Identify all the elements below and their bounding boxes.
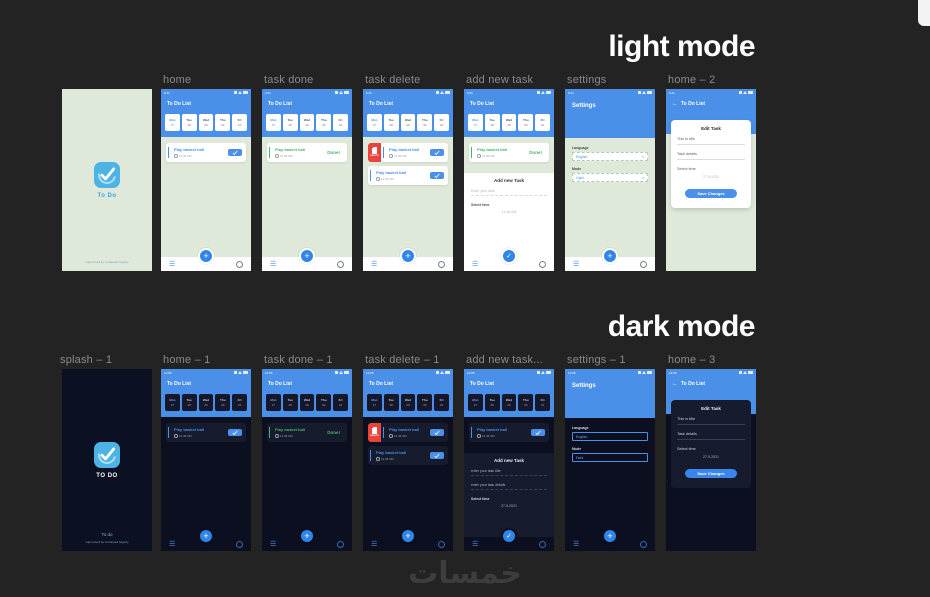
frame-label-add-new-task-1: add new task...: [466, 354, 543, 366]
day-number: 29: [507, 403, 510, 407]
check-icon: [100, 167, 115, 182]
chevron-down-icon: ▾: [642, 155, 644, 159]
day-number: 01: [238, 403, 241, 407]
splash-footer-credit: supervised by mohamed hegazy: [85, 260, 128, 264]
day-card[interactable]: Tue 28: [485, 114, 500, 131]
date-value[interactable]: 27-9-2021: [677, 175, 745, 179]
day-number: 29: [406, 403, 409, 407]
add-task-fab[interactable]: +: [602, 248, 618, 264]
screen-splash-dark[interactable]: TO DO To do supervised by mohamed hegazy: [62, 369, 152, 551]
clock-icon: [174, 434, 178, 438]
list-icon[interactable]: ☰: [270, 261, 276, 268]
day-card[interactable]: Wed 29: [502, 394, 517, 411]
task-complete-button[interactable]: [430, 452, 444, 459]
task-item[interactable]: Play basket ball 11:45 AM: [469, 423, 549, 442]
mode-select[interactable]: Dark: [572, 453, 648, 462]
screen-splash-light[interactable]: To Do supervised by mohamed hegazy: [62, 89, 152, 271]
signal-icon: [335, 371, 338, 374]
gear-icon[interactable]: [438, 541, 445, 548]
status-time: 9:41: [265, 91, 271, 95]
day-strip[interactable]: Mon 27 Tue 28 Wed 29 Thu 30 Fri 01: [464, 112, 554, 137]
wifi-icon: [339, 91, 343, 94]
language-select[interactable]: English: [572, 432, 648, 441]
day-name: Thu: [321, 398, 327, 402]
day-number: 28: [188, 403, 191, 407]
date-value[interactable]: 27-9-2021: [677, 455, 745, 459]
day-card[interactable]: Mon 27: [468, 114, 483, 131]
task-item[interactable]: Play basket ball 11:45 AM: [381, 423, 448, 442]
day-name: Wed: [506, 398, 512, 402]
frame-label-task-delete: task delete: [365, 74, 420, 86]
status-bar: 9:41: [666, 89, 756, 96]
add-task-fab[interactable]: +: [400, 248, 416, 264]
battery-icon: [344, 91, 349, 94]
bottom-nav[interactable]: ☰ ✓: [464, 537, 554, 551]
app-bar-title: To Do List: [681, 101, 705, 107]
title-input[interactable]: This is title: [677, 417, 745, 425]
day-card[interactable]: Fri 01: [232, 394, 247, 411]
app-logo: [94, 162, 120, 188]
task-item-done[interactable]: Play basket ball 11:45 AM Done!: [469, 143, 549, 162]
done-badge: Done!: [529, 150, 545, 155]
status-time: 9:41: [467, 91, 473, 95]
task-title: Play basket ball: [389, 427, 419, 432]
screen-task-done-dark[interactable]: 12:05 To Do List Mon 27 Tue 28 Wed 29 Th…: [262, 369, 352, 551]
list-icon[interactable]: ☰: [472, 541, 478, 548]
wifi-icon: [238, 91, 242, 94]
delete-action-button[interactable]: DELETE: [368, 143, 381, 162]
day-name: Mon: [371, 118, 377, 122]
day-card[interactable]: Wed 29: [401, 114, 416, 131]
list-icon[interactable]: ☰: [169, 541, 175, 548]
list-icon[interactable]: ☰: [472, 261, 478, 268]
edit-task-body: Edit Task This is title Task details Sel…: [666, 112, 756, 271]
day-card[interactable]: Thu 30: [316, 394, 331, 411]
time-value[interactable]: 11:45 AM: [471, 210, 547, 214]
gear-icon[interactable]: [438, 261, 445, 268]
task-list: Play basket ball 11:45 AM: [161, 417, 251, 537]
bottom-nav[interactable]: ☰ +: [262, 257, 352, 271]
day-number: 28: [491, 123, 494, 127]
clock-icon: [275, 434, 279, 438]
frame-label-home: home: [163, 74, 191, 86]
add-task-fab[interactable]: +: [198, 528, 214, 544]
sheet-title: Add new Task: [471, 178, 547, 183]
battery-icon: [344, 371, 349, 374]
day-name: Fri: [238, 118, 242, 122]
day-number: 29: [305, 403, 308, 407]
wifi-icon: [339, 371, 343, 374]
status-icons: [335, 91, 349, 94]
app-bar: To Do List: [161, 376, 251, 392]
add-task-fab[interactable]: +: [400, 528, 416, 544]
app-bar-title: To Do List: [268, 381, 292, 387]
screen-edit-task-dark[interactable]: 12:05 ← To Do List Edit Task This is tit…: [666, 369, 756, 551]
frame-label-task-done: task done: [264, 74, 314, 86]
day-name: Tue: [288, 398, 293, 402]
day-number: 27: [373, 123, 376, 127]
day-card[interactable]: Mon 27: [165, 114, 180, 131]
done-badge: Done!: [327, 430, 343, 435]
status-icons: [436, 371, 450, 374]
day-number: 28: [188, 123, 191, 127]
gear-icon[interactable]: [236, 261, 243, 268]
task-item[interactable]: Play basket ball 11:45 AM: [381, 143, 448, 162]
day-card[interactable]: Fri 01: [535, 394, 550, 411]
add-task-sheet: Add new Task enter your task title enter…: [464, 453, 554, 537]
list-icon[interactable]: ☰: [371, 541, 377, 548]
select-time-label: Select time: [471, 497, 547, 501]
day-number: 01: [541, 403, 544, 407]
settings-body: Language English Mode Dark: [565, 418, 655, 537]
day-number: 01: [440, 403, 443, 407]
task-title: Play basket ball: [174, 427, 204, 432]
task-time-text: 11:45 AM: [179, 434, 191, 438]
splash-footer-credit: supervised by mohamed hegazy: [85, 540, 128, 544]
mode-group: Mode Dark: [572, 447, 648, 462]
app-bar-title: To Do List: [167, 101, 191, 107]
day-card[interactable]: Thu 30: [518, 394, 533, 411]
day-card[interactable]: Fri 01: [434, 114, 449, 131]
task-time-text: 11:45 AM: [280, 434, 292, 438]
app-bar-title: To Do List: [369, 101, 393, 107]
add-task-fab[interactable]: +: [299, 528, 315, 544]
day-name: Mon: [270, 118, 276, 122]
day-card[interactable]: Tue 28: [182, 394, 197, 411]
status-bar: 9:41: [565, 89, 655, 96]
app-bar: To Do List: [363, 376, 453, 392]
task-complete-button[interactable]: [430, 429, 444, 436]
task-title: Play basket ball: [174, 147, 204, 152]
day-number: 01: [339, 123, 342, 127]
save-changes-button[interactable]: Save Changes: [685, 189, 737, 198]
day-card[interactable]: Wed 29: [199, 394, 214, 411]
task-item[interactable]: Play basket ball 11:45 AM: [166, 423, 246, 442]
day-card[interactable]: Fri 01: [333, 114, 348, 131]
sheet-title: Add new Task: [471, 458, 547, 463]
task-complete-button[interactable]: [430, 172, 444, 179]
day-card[interactable]: Wed 29: [199, 114, 214, 131]
task-time: 11:45 AM: [275, 154, 305, 158]
task-item-done[interactable]: Play basket ball 11:45 AM Done!: [267, 143, 347, 162]
day-number: 01: [440, 123, 443, 127]
app-bar-title: To Do List: [470, 101, 494, 107]
battery-icon: [546, 371, 551, 374]
day-number: 30: [524, 123, 527, 127]
task-time: 11:45 AM: [275, 434, 305, 438]
screen-task-delete-dark[interactable]: 12:05 To Do List Mon 27 Tue 28 Wed 29 Th…: [363, 369, 453, 551]
list-icon[interactable]: ☰: [573, 541, 579, 548]
language-group: Language English ▾: [572, 146, 648, 161]
check-icon: [434, 430, 440, 436]
day-name: Wed: [203, 398, 209, 402]
day-card[interactable]: Thu 30: [215, 114, 230, 131]
day-number: 01: [339, 403, 342, 407]
task-complete-button[interactable]: [228, 149, 242, 156]
day-card[interactable]: Tue 28: [384, 114, 399, 131]
status-bar: 12:05: [363, 369, 453, 376]
day-card[interactable]: Fri 01: [333, 394, 348, 411]
frame-label-task-done-1: task done – 1: [264, 354, 333, 366]
day-number: 01: [238, 123, 241, 127]
gear-icon[interactable]: [337, 541, 344, 548]
screen-home-dark[interactable]: 12:05 To Do List Mon 27 Tue 28 Wed 29 Th…: [161, 369, 251, 551]
day-name: Thu: [523, 118, 529, 122]
add-task-fab[interactable]: +: [602, 528, 618, 544]
signal-icon: [739, 371, 742, 374]
day-number: 27: [171, 123, 174, 127]
day-card[interactable]: Wed 29: [300, 114, 315, 131]
confirm-task-fab[interactable]: ✓: [501, 528, 517, 544]
gear-icon[interactable]: [539, 261, 546, 268]
task-time-text: 11:45 AM: [394, 434, 406, 438]
list-icon[interactable]: ☰: [371, 261, 377, 268]
language-select[interactable]: English ▾: [572, 152, 648, 161]
status-time: 9:41: [669, 91, 675, 95]
task-input[interactable]: Enter your task: [471, 189, 547, 196]
back-arrow-icon[interactable]: ←: [672, 101, 678, 107]
task-complete-button[interactable]: [430, 149, 444, 156]
mode-group: Mode Light ▾: [572, 167, 648, 182]
task-item-swiped[interactable]: DELETE Play basket ball 11:45 AM: [368, 143, 448, 162]
day-name: Tue: [490, 118, 495, 122]
task-text: Play basket ball 11:45 AM: [272, 427, 305, 438]
day-name: Thu: [220, 398, 226, 402]
select-time-label: Select time: [471, 203, 547, 207]
task-text: Play basket ball 11:45 AM: [171, 147, 204, 158]
screen-settings-light[interactable]: 9:41 Settings Language English ▾ Mode Li…: [565, 89, 655, 271]
task-time: 11:45 AM: [477, 154, 507, 158]
save-changes-button[interactable]: Save Changes: [685, 469, 737, 478]
day-card[interactable]: Mon 27: [266, 394, 281, 411]
day-name: Fri: [541, 398, 545, 402]
day-card[interactable]: Thu 30: [215, 394, 230, 411]
day-number: 30: [524, 403, 527, 407]
signal-icon: [234, 91, 237, 94]
task-list: Play basket ball 11:45 AM Done!: [262, 137, 352, 257]
screen-add-new-task-dark[interactable]: 12:05 To Do List Mon 27 Tue 28 Wed 29 Th…: [464, 369, 554, 551]
day-card[interactable]: Wed 29: [401, 394, 416, 411]
bottom-nav[interactable]: ☰ +: [262, 537, 352, 551]
frame-label-home-3: home – 3: [668, 354, 715, 366]
day-card[interactable]: Thu 30: [518, 114, 533, 131]
day-strip[interactable]: Mon 27 Tue 28 Wed 29 Thu 30 Fri 01: [363, 112, 453, 137]
day-name: Fri: [440, 398, 444, 402]
day-name: Mon: [169, 398, 175, 402]
gear-icon[interactable]: [539, 541, 546, 548]
day-card[interactable]: Thu 30: [417, 114, 432, 131]
frame-label-home-1: home – 1: [163, 354, 210, 366]
splash-footer-title: To do: [62, 532, 152, 539]
day-card[interactable]: Mon 27: [468, 394, 483, 411]
day-strip[interactable]: Mon 27 Tue 28 Wed 29 Thu 30 Fri 01: [363, 392, 453, 417]
task-time: 11:45 AM: [389, 154, 419, 158]
day-number: 29: [305, 123, 308, 127]
day-name: Tue: [389, 118, 394, 122]
back-arrow-icon[interactable]: ←: [672, 381, 678, 387]
task-title: Play basket ball: [275, 147, 305, 152]
bottom-nav[interactable]: ☰ +: [565, 257, 655, 271]
signal-icon: [739, 91, 742, 94]
task-text: Play basket ball 11:45 AM: [272, 147, 305, 158]
bottom-nav[interactable]: ☰ +: [565, 537, 655, 551]
task-time-text: 11:45 AM: [280, 154, 292, 158]
task-time: 11:45 AM: [174, 154, 204, 158]
day-name: Thu: [220, 118, 226, 122]
add-task-fab[interactable]: +: [198, 248, 214, 264]
day-name: Wed: [405, 398, 411, 402]
bottom-nav[interactable]: ☰ ✓: [464, 257, 554, 271]
task-item[interactable]: Play basket ball 11:45 AM: [368, 166, 448, 185]
day-card[interactable]: Tue 28: [384, 394, 399, 411]
splash-footer: supervised by mohamed hegazy: [62, 260, 152, 265]
day-card[interactable]: Tue 28: [283, 114, 298, 131]
day-name: Wed: [405, 118, 411, 122]
frame-label-settings: settings: [567, 74, 607, 86]
screen-task-done-light[interactable]: 9:41 To Do List Mon 27 Tue 28 Wed 29 Thu…: [262, 89, 352, 271]
day-strip[interactable]: Mon 27 Tue 28 Wed 29 Thu 30 Fri 01: [262, 112, 352, 137]
task-item[interactable]: Play basket ball 11:45 AM: [368, 446, 448, 465]
task-title: Play basket ball: [477, 147, 507, 152]
date-value[interactable]: 27-9-2021: [471, 504, 547, 508]
task-time: 11:45 AM: [376, 177, 406, 181]
list-icon[interactable]: ☰: [573, 261, 579, 268]
check-icon: [535, 430, 541, 436]
screen-home-light[interactable]: 9:41 To Do List Mon 27 Tue 28 Wed 29 Thu…: [161, 89, 251, 271]
settings-app-bar: Settings: [565, 96, 655, 138]
delete-action-button[interactable]: DELETE: [368, 423, 381, 442]
day-number: 28: [289, 123, 292, 127]
day-name: Mon: [270, 398, 276, 402]
corner-notch: [918, 0, 930, 26]
day-card[interactable]: Tue 28: [283, 394, 298, 411]
screen-edit-task-light[interactable]: 9:41 ← To Do List Edit Task This is titl…: [666, 89, 756, 271]
trash-icon: [372, 428, 377, 434]
status-bar: 12:05: [666, 369, 756, 376]
day-number: 30: [423, 123, 426, 127]
battery-icon: [546, 91, 551, 94]
status-icons: [234, 91, 248, 94]
day-card[interactable]: Tue 28: [182, 114, 197, 131]
delete-label: DELETE: [370, 155, 379, 157]
task-time-text: 11:45 AM: [381, 457, 393, 461]
list-icon[interactable]: ☰: [270, 541, 276, 548]
day-card[interactable]: Fri 01: [232, 114, 247, 131]
task-item-swiped[interactable]: DELETE Play basket ball 11:45 AM: [368, 423, 448, 442]
gear-icon[interactable]: [337, 261, 344, 268]
day-number: 27: [171, 403, 174, 407]
screen-add-new-task-light[interactable]: 9:41 To Do List Mon 27 Tue 28 Wed 29 Thu…: [464, 89, 554, 271]
wifi-icon: [440, 91, 444, 94]
signal-icon: [234, 371, 237, 374]
day-card[interactable]: Mon 27: [165, 394, 180, 411]
status-bar: 9:41: [161, 89, 251, 96]
screen-settings-dark[interactable]: 12:05 Settings Language English Mode Dar…: [565, 369, 655, 551]
day-card[interactable]: Thu 30: [316, 114, 331, 131]
gear-icon[interactable]: [236, 541, 243, 548]
mode-value: Light: [576, 176, 584, 180]
day-name: Tue: [187, 398, 192, 402]
day-name: Wed: [203, 118, 209, 122]
add-task-fab[interactable]: +: [299, 248, 315, 264]
day-card[interactable]: Tue 28: [485, 394, 500, 411]
status-time: 9:41: [568, 91, 574, 95]
status-bar: 9:41: [464, 89, 554, 96]
task-complete-button[interactable]: [228, 429, 242, 436]
status-icons: [234, 371, 248, 374]
day-strip[interactable]: Mon 27 Tue 28 Wed 29 Thu 30 Fri 01: [262, 392, 352, 417]
confirm-task-fab[interactable]: ✓: [501, 248, 517, 264]
clock-icon: [389, 154, 393, 158]
details-input[interactable]: Task details: [677, 432, 745, 440]
screen-task-delete-light[interactable]: 9:41 To Do List Mon 27 Tue 28 Wed 29 Thu…: [363, 89, 453, 271]
list-icon[interactable]: ☰: [169, 261, 175, 268]
task-item-done[interactable]: Play basket ball 11:45 AM Done!: [267, 423, 347, 442]
task-list: Play basket ball 11:45 AM Done!: [262, 417, 352, 537]
day-card[interactable]: Wed 29: [502, 114, 517, 131]
day-strip[interactable]: Mon 27 Tue 28 Wed 29 Thu 30 Fri 01: [161, 112, 251, 137]
bottom-nav[interactable]: ☰ +: [363, 257, 453, 271]
task-item[interactable]: Play basket ball 11:45 AM: [166, 143, 246, 162]
day-card[interactable]: Fri 01: [535, 114, 550, 131]
mode-select[interactable]: Light ▾: [572, 173, 648, 182]
task-details-input[interactable]: enter your task details: [471, 483, 547, 490]
app-bar: To Do List: [262, 96, 352, 112]
status-bar: 12:05: [262, 369, 352, 376]
day-strip[interactable]: Mon 27 Tue 28 Wed 29 Thu 30 Fri 01: [161, 392, 251, 417]
task-title-input[interactable]: enter your task title: [471, 469, 547, 476]
language-value: English: [576, 155, 587, 159]
wifi-icon: [541, 91, 545, 94]
bottom-nav[interactable]: ☰ +: [161, 537, 251, 551]
settings-title: Settings: [572, 383, 648, 389]
bottom-nav[interactable]: ☰ +: [161, 257, 251, 271]
task-complete-button[interactable]: [531, 429, 545, 436]
day-card[interactable]: Mon 27: [266, 114, 281, 131]
title-input[interactable]: This is title: [677, 137, 745, 145]
language-label: Language: [572, 426, 648, 430]
task-text: Play basket ball 11:45 AM: [474, 427, 507, 438]
frame-label-add-new-task: add new task: [466, 74, 533, 86]
day-card[interactable]: Fri 01: [434, 394, 449, 411]
signal-icon: [537, 371, 540, 374]
day-card[interactable]: Thu 30: [417, 394, 432, 411]
gear-icon[interactable]: [640, 261, 647, 268]
day-name: Tue: [389, 398, 394, 402]
day-number: 29: [204, 403, 207, 407]
battery-icon: [445, 371, 450, 374]
status-bar: 9:41: [262, 89, 352, 96]
day-name: Mon: [472, 118, 478, 122]
day-card[interactable]: Wed 29: [300, 394, 315, 411]
battery-icon: [647, 371, 652, 374]
bottom-nav[interactable]: ☰ +: [363, 537, 453, 551]
status-icons: [537, 371, 551, 374]
frame-label-task-delete-1: task delete – 1: [365, 354, 440, 366]
day-number: 30: [322, 123, 325, 127]
mode-label: Mode: [572, 167, 648, 171]
day-card[interactable]: Mon 27: [367, 114, 382, 131]
details-input[interactable]: Task details: [677, 152, 745, 160]
task-title: Play basket ball: [389, 147, 419, 152]
section-title-light: light mode: [608, 30, 755, 64]
gear-icon[interactable]: [640, 541, 647, 548]
day-number: 29: [204, 123, 207, 127]
status-bar: 12:05: [161, 369, 251, 376]
day-strip[interactable]: Mon 27 Tue 28 Wed 29 Thu 30 Fri 01: [464, 392, 554, 417]
add-task-sheet: Add new Task Enter your task Select time…: [464, 173, 554, 257]
day-card[interactable]: Mon 27: [367, 394, 382, 411]
